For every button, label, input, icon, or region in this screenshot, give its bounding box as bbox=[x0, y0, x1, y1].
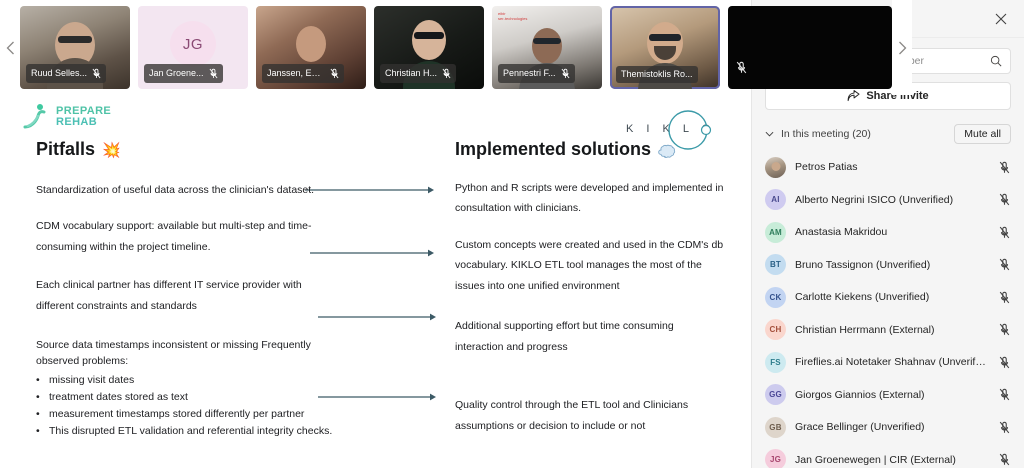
mic-off-icon bbox=[999, 193, 1010, 206]
chevron-down-icon bbox=[765, 131, 774, 137]
tile-participant-name: Pennestri F... bbox=[503, 69, 556, 78]
avatar: GG bbox=[765, 384, 786, 405]
participant-name: Christian Herrmann (External) bbox=[795, 324, 988, 336]
participant-row[interactable]: Petros Patias bbox=[765, 151, 1011, 184]
avatar: JG bbox=[765, 449, 786, 468]
in-this-meeting-label: In this meeting (20) bbox=[781, 128, 871, 140]
chevron-left-icon bbox=[6, 41, 15, 55]
list-item: •This disrupted ETL validation and refer… bbox=[36, 423, 336, 440]
mic-off-icon bbox=[999, 291, 1010, 304]
participant-name: Alberto Negrini ISICO (Unverified) bbox=[795, 194, 988, 206]
bullet-text: missing visit dates bbox=[49, 372, 134, 389]
participant-mic-toggle[interactable] bbox=[997, 258, 1011, 271]
participant-name: Giorgos Giannios (External) bbox=[795, 389, 988, 401]
solutions-title: Implemented solutions bbox=[455, 139, 651, 160]
avatar: GB bbox=[765, 417, 786, 438]
participant-row[interactable]: GG Giorgos Giannios (External) bbox=[765, 379, 1011, 412]
tile-mic-off-badge bbox=[736, 61, 747, 79]
participant-mic-toggle[interactable] bbox=[997, 356, 1011, 369]
participant-mic-toggle[interactable] bbox=[997, 193, 1011, 206]
video-tile[interactable]: eibirser-technologies Pennestri F... bbox=[492, 6, 602, 89]
participant-row[interactable]: GB Grace Bellinger (Unverified) bbox=[765, 411, 1011, 444]
in-this-meeting-row: In this meeting (20) Mute all bbox=[765, 123, 1011, 145]
filmstrip-prev-button[interactable] bbox=[0, 0, 20, 95]
participant-mic-toggle[interactable] bbox=[997, 453, 1011, 466]
pitfall-bullets: •missing visit dates •treatment dates st… bbox=[36, 372, 336, 440]
mic-off-icon bbox=[999, 388, 1010, 401]
avatar: BT bbox=[765, 254, 786, 275]
avatar bbox=[765, 157, 786, 178]
search-icon bbox=[990, 55, 1002, 67]
participant-row[interactable]: CH Christian Herrmann (External) bbox=[765, 314, 1011, 347]
participant-row[interactable]: CK Carlotte Kiekens (Unverified) bbox=[765, 281, 1011, 314]
participant-name: Petros Patias bbox=[795, 161, 988, 173]
list-item: •treatment dates stored as text bbox=[36, 389, 336, 406]
participant-name: Jan Groenewegen | CIR (External) bbox=[795, 454, 988, 466]
video-tile[interactable] bbox=[728, 6, 892, 89]
mic-off-icon bbox=[442, 68, 451, 79]
solution-block: Quality control through the ETL tool and… bbox=[455, 395, 725, 436]
participant-mic-toggle[interactable] bbox=[997, 323, 1011, 336]
chevron-right-icon bbox=[898, 41, 907, 55]
mic-off-icon bbox=[736, 61, 747, 74]
solution-block: Additional supporting effort but time co… bbox=[455, 316, 725, 357]
mic-off-icon bbox=[999, 356, 1010, 369]
participant-row[interactable]: FS Fireflies.ai Notetaker Shahnav (Unver… bbox=[765, 346, 1011, 379]
pitfall-block: CDM vocabulary support: available but mu… bbox=[36, 216, 336, 257]
video-tile[interactable]: Ruud Selles... bbox=[20, 6, 130, 89]
solution-block: Python and R scripts were developed and … bbox=[455, 178, 725, 219]
mute-all-button[interactable]: Mute all bbox=[954, 124, 1011, 144]
mic-off-icon bbox=[999, 258, 1010, 271]
solutions-column: Implemented solutions Python and R scrip… bbox=[455, 139, 725, 454]
tile-background-logo: eibirser-technologies bbox=[498, 12, 527, 22]
video-tile[interactable]: JG Jan Groene... bbox=[138, 6, 248, 89]
participant-mic-toggle[interactable] bbox=[997, 291, 1011, 304]
close-panel-button[interactable] bbox=[992, 10, 1010, 28]
participant-row[interactable]: AI Alberto Negrini ISICO (Unverified) bbox=[765, 184, 1011, 217]
pitfall-block: Standardization of useful data across th… bbox=[36, 180, 336, 200]
tile-participant-name: Christian H... bbox=[385, 69, 437, 78]
mic-off-icon bbox=[209, 68, 218, 79]
pitfall-block: Source data timestamps inconsistent or m… bbox=[36, 338, 356, 368]
list-item: •missing visit dates bbox=[36, 372, 336, 389]
participant-row[interactable]: BT Bruno Tassignon (Unverified) bbox=[765, 249, 1011, 282]
tile-participant-name: Jan Groene... bbox=[149, 69, 204, 78]
participant-name: Grace Bellinger (Unverified) bbox=[795, 421, 988, 433]
solutions-heading: Implemented solutions bbox=[455, 139, 725, 160]
brand-line-2: REHAB bbox=[56, 117, 111, 128]
avatar: CK bbox=[765, 287, 786, 308]
participant-mic-toggle[interactable] bbox=[997, 388, 1011, 401]
avatar: CH bbox=[765, 319, 786, 340]
participant-row[interactable]: JG Jan Groenewegen | CIR (External) bbox=[765, 444, 1011, 468]
participants-panel-body: Share invite In this meeting (20) Mute a… bbox=[752, 38, 1024, 468]
participant-mic-toggle[interactable] bbox=[997, 161, 1011, 174]
participant-row[interactable]: AM Anastasia Makridou bbox=[765, 216, 1011, 249]
video-tile[interactable]: Christian H... bbox=[374, 6, 484, 89]
tile-participant-name: Themistoklis Ro... bbox=[621, 70, 693, 79]
tile-name-badge: Janssen, Est... bbox=[262, 64, 344, 83]
participant-name: Bruno Tassignon (Unverified) bbox=[795, 259, 988, 271]
prepare-rehab-logo: PREPARE REHAB bbox=[22, 103, 111, 131]
bullet-dot: • bbox=[36, 423, 40, 440]
bullet-dot: • bbox=[36, 406, 40, 423]
mic-off-icon bbox=[561, 68, 570, 79]
tile-name-badge: Ruud Selles... bbox=[26, 64, 106, 83]
meeting-stage: Ruud Selles... JG Jan Groene... Jans bbox=[0, 0, 751, 468]
participant-name: Fireflies.ai Notetaker Shahnav (Unverifi… bbox=[795, 356, 988, 368]
mic-off-icon bbox=[999, 226, 1010, 239]
participant-mic-toggle[interactable] bbox=[997, 226, 1011, 239]
bullet-text: measurement timestamps stored differentl… bbox=[49, 406, 304, 423]
mic-off-icon bbox=[999, 421, 1010, 434]
tile-name-badge: Jan Groene... bbox=[144, 64, 223, 83]
bullet-dot: • bbox=[36, 372, 40, 389]
solution-block: Custom concepts were created and used in… bbox=[455, 235, 725, 296]
avatar: AM bbox=[765, 222, 786, 243]
mic-off-icon bbox=[999, 453, 1010, 466]
participant-name: Carlotte Kiekens (Unverified) bbox=[795, 291, 988, 303]
tile-participant-name: Janssen, Est... bbox=[267, 69, 325, 78]
participants-list: Petros Patias AI Alberto Negrini ISICO (… bbox=[765, 151, 1011, 468]
mic-off-icon bbox=[999, 323, 1010, 336]
explosion-icon: 💥 bbox=[102, 141, 121, 159]
shared-slide: PREPARE REHAB K I K L O bbox=[0, 95, 751, 468]
video-tile[interactable]: Janssen, Est... bbox=[256, 6, 366, 89]
prepare-rehab-wordmark: PREPARE REHAB bbox=[56, 106, 111, 128]
avatar: FS bbox=[765, 352, 786, 373]
tile-name-badge: Christian H... bbox=[380, 64, 456, 83]
tile-participant-name: Ruud Selles... bbox=[31, 69, 87, 78]
close-icon bbox=[995, 13, 1007, 25]
tile-initials-avatar: JG bbox=[170, 21, 216, 67]
bullet-text: treatment dates stored as text bbox=[49, 389, 188, 406]
list-item: •measurement timestamps stored different… bbox=[36, 406, 336, 423]
avatar: AI bbox=[765, 189, 786, 210]
tile-name-badge: Themistoklis Ro... bbox=[616, 66, 698, 83]
bullet-text: This disrupted ETL validation and refere… bbox=[49, 423, 332, 440]
participant-name: Anastasia Makridou bbox=[795, 226, 988, 238]
tile-name-badge: Pennestri F... bbox=[498, 64, 575, 83]
video-tile-active-speaker[interactable]: Themistoklis Ro... bbox=[610, 6, 720, 89]
pitfalls-column: Pitfalls 💥 Standardization of useful dat… bbox=[36, 139, 336, 440]
brain-icon bbox=[657, 141, 679, 159]
mic-off-icon bbox=[330, 68, 339, 79]
video-filmstrip: Ruud Selles... JG Jan Groene... Jans bbox=[0, 0, 751, 95]
prepare-runner-icon bbox=[22, 103, 52, 131]
participant-mic-toggle[interactable] bbox=[997, 421, 1011, 434]
mic-off-icon bbox=[999, 161, 1010, 174]
bullet-dot: • bbox=[36, 389, 40, 406]
pitfall-block: Each clinical partner has different IT s… bbox=[36, 275, 336, 316]
in-this-meeting-toggle[interactable]: In this meeting (20) bbox=[765, 128, 871, 140]
pitfalls-title: Pitfalls bbox=[36, 139, 95, 160]
filmstrip-next-button[interactable] bbox=[892, 0, 912, 95]
video-tiles: Ruud Selles... JG Jan Groene... Jans bbox=[20, 0, 892, 95]
mic-off-icon bbox=[92, 68, 101, 79]
pitfalls-heading: Pitfalls 💥 bbox=[36, 139, 336, 160]
